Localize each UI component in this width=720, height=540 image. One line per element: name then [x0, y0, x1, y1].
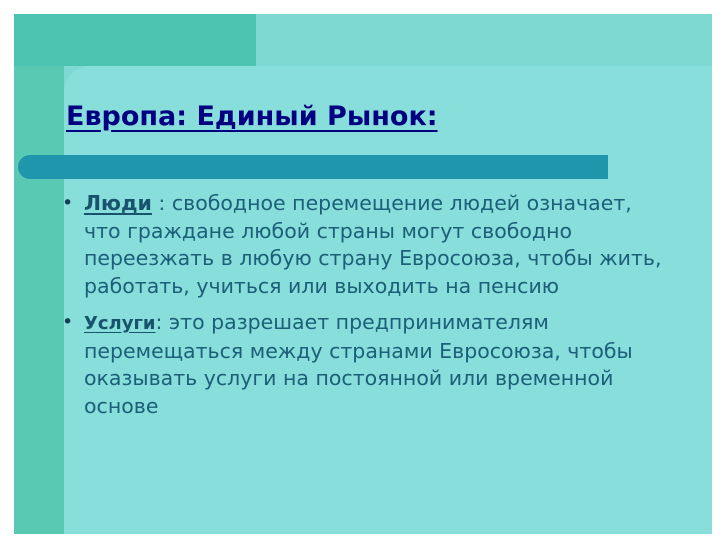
slide-edge-left: [0, 0, 14, 540]
presentation-slide: Европа: Единый Рынок: • Люди : свободное…: [0, 0, 720, 540]
decorative-accent-bar: [18, 155, 608, 179]
bullet-text: Люди : свободное перемещение людей означ…: [84, 190, 664, 300]
slide-title-text: Европа: Единый Рынок:: [66, 101, 438, 132]
decorative-top-block: [14, 14, 256, 66]
slide-body: • Люди : свободное перемещение людей озн…: [54, 190, 664, 420]
bullet-point-icon: •: [54, 190, 84, 217]
slide-title: Европа: Единый Рынок:: [66, 101, 438, 132]
slide-edge-right: [712, 0, 720, 540]
slide-edge-bottom: [0, 534, 720, 540]
bullet-separator: :: [152, 191, 172, 215]
bullet-separator: :: [155, 310, 168, 334]
bullet-item: • Услуги: это разрешает предпринимателям…: [54, 309, 664, 420]
bullet-point-icon: •: [54, 309, 84, 336]
bullet-lead-label: Услуги: [84, 313, 155, 334]
bullet-item: • Люди : свободное перемещение людей озн…: [54, 190, 664, 300]
slide-edge-top: [0, 0, 720, 14]
bullet-text: Услуги: это разрешает предпринимателям п…: [84, 309, 664, 420]
bullet-lead-label: Люди: [84, 191, 152, 215]
